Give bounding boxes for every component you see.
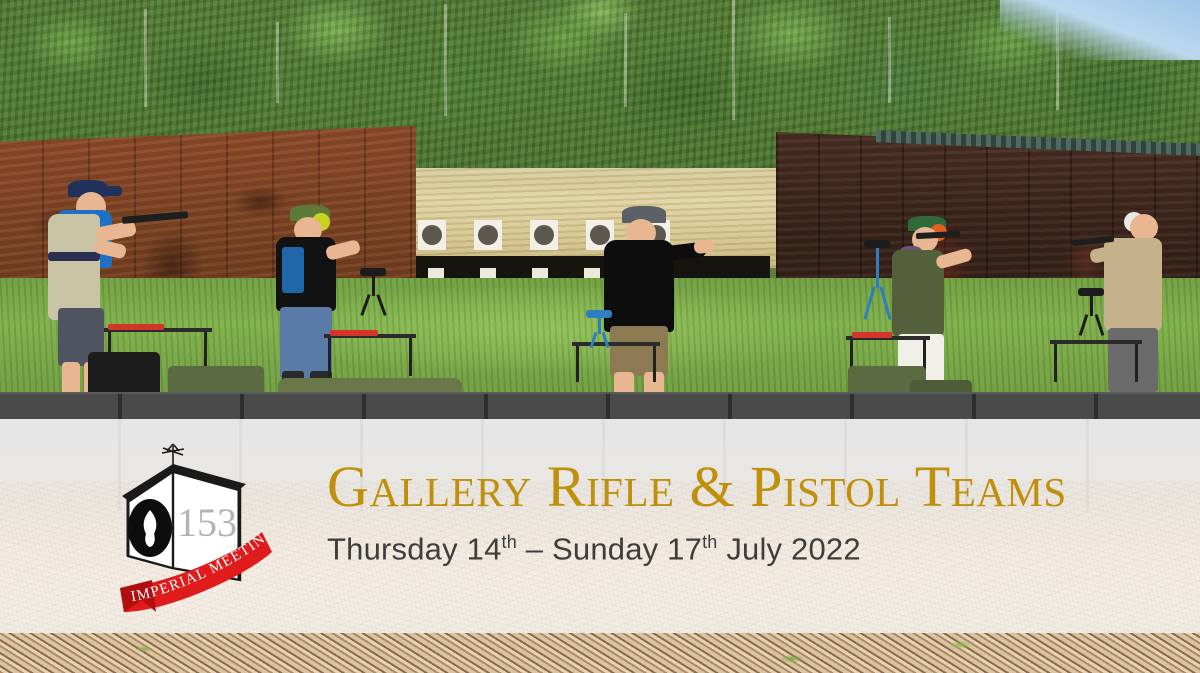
date-start-suffix: th bbox=[502, 532, 517, 552]
date-end-suffix: th bbox=[702, 532, 717, 552]
shooter-5 bbox=[1096, 208, 1200, 398]
date-month-year: July 2022 bbox=[718, 531, 861, 566]
spotting-scope-2 bbox=[584, 310, 618, 352]
date-separator: – bbox=[517, 531, 552, 566]
range-photograph bbox=[0, 0, 1200, 419]
date-start: Thursday 14 bbox=[327, 531, 502, 566]
date-end: Sunday 17 bbox=[552, 531, 702, 566]
kit-bag-1 bbox=[88, 352, 160, 396]
event-dates: Thursday 14th – Sunday 17th July 2022 bbox=[327, 524, 861, 567]
firing-point-kerb bbox=[0, 392, 1200, 419]
imperial-meeting-logo: 153 IMPERIAL MEETING bbox=[112, 440, 280, 616]
shooter-3 bbox=[596, 206, 716, 396]
event-poster: 153 IMPERIAL MEETING Gallery Rifle & Pis… bbox=[0, 0, 1200, 673]
shooting-table-2 bbox=[324, 334, 416, 338]
shooting-table-4 bbox=[846, 336, 930, 340]
spotting-scope-3 bbox=[862, 240, 896, 336]
nra-flame-roundel-icon bbox=[128, 499, 172, 557]
logo-year-number: 153 bbox=[177, 500, 237, 545]
shooting-table-1 bbox=[104, 328, 212, 332]
sky-patch bbox=[1000, 0, 1200, 60]
spotting-scope-4 bbox=[1076, 288, 1110, 344]
page-title: Gallery Rifle & Pistol Teams bbox=[327, 456, 1067, 518]
weathervane-icon bbox=[162, 444, 184, 466]
spotting-scope-1 bbox=[358, 268, 392, 328]
gravel-strip bbox=[0, 633, 1200, 673]
